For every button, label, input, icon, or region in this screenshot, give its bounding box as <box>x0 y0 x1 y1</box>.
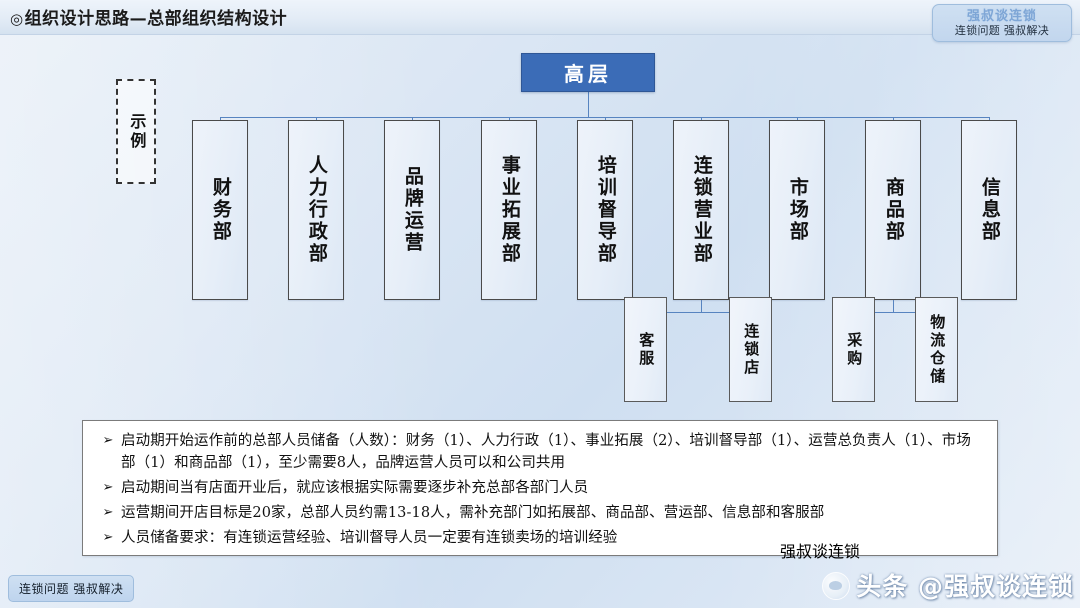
node-sub-liansuodian-label: 连锁店 <box>743 323 759 377</box>
title-marker-icon: ◎ <box>10 10 24 28</box>
note-item-2-text: 运营期间开店目标是20家，总部人员约需13-18人，需补充部门如拓展部、商品部、… <box>121 502 985 524</box>
note-bullet-icon: ➢ <box>95 430 121 452</box>
note-item-0-text: 启动期开始运作前的总部人员储备（人数）：财务（1）、人力行政（1）、事业拓展（2… <box>121 430 985 474</box>
node-dept-5-label: 连锁营业部 <box>691 155 711 265</box>
node-dept-3-label: 事业拓展部 <box>499 155 519 265</box>
node-sub-kefu-label: 客服 <box>638 332 654 368</box>
node-sub-kefu[interactable]: 客服 <box>624 297 667 402</box>
connector-sp-stem <box>893 300 894 312</box>
example-annotation-box: 示例 <box>116 79 156 184</box>
node-sub-liansuodian[interactable]: 连锁店 <box>729 297 772 402</box>
watermark-main: 头条 @强叔谈连锁 <box>822 572 1074 600</box>
watermark-platform: 头条 <box>856 572 908 601</box>
node-dept-0[interactable]: 财务部 <box>192 120 248 300</box>
note-bullet-icon: ➢ <box>95 502 121 524</box>
node-sub-wuliu[interactable]: 物流仓储 <box>915 297 958 402</box>
brand-name: 强叔谈连锁 <box>967 10 1037 24</box>
watermark-handle: 头条 @强叔谈连锁 <box>856 573 1074 600</box>
node-dept-4[interactable]: 培训督导部 <box>577 120 633 300</box>
node-dept-6[interactable]: 市场部 <box>769 120 825 300</box>
connector-root-stem <box>588 92 589 118</box>
watermark-ghost-text: 强叔谈连锁 <box>780 538 1080 562</box>
node-root[interactable]: 高层 <box>521 53 655 92</box>
page-title-text: 组织设计思路—总部组织结构设计 <box>25 9 288 29</box>
node-dept-4-label: 培训督导部 <box>595 155 615 265</box>
note-bullet-icon: ➢ <box>95 477 121 499</box>
node-dept-2-label: 品牌运营 <box>402 166 422 254</box>
brand-badge-bottom-left[interactable]: 连锁问题 强叔解决 <box>8 575 134 602</box>
avatar <box>822 572 850 600</box>
connector-ls-stem <box>701 300 702 312</box>
watermark: 强叔谈连锁 头条 @强叔谈连锁 <box>780 538 1080 608</box>
node-sub-wuliu-label: 物流仓储 <box>929 314 945 386</box>
note-item-1: ➢启动期间当有店面开业后，就应该根据实际需要逐步补充总部各部门人员 <box>95 477 985 499</box>
node-dept-7-label: 商品部 <box>883 177 903 243</box>
node-dept-5[interactable]: 连锁营业部 <box>673 120 729 300</box>
example-annotation-label: 示例 <box>128 113 145 151</box>
watermark-account: @强叔谈连锁 <box>918 572 1074 601</box>
slide-canvas: ◎组织设计思路—总部组织结构设计 强叔谈连锁 连锁问题 强叔解决 示例 高层 财… <box>0 0 1080 608</box>
node-dept-2[interactable]: 品牌运营 <box>384 120 440 300</box>
node-dept-3[interactable]: 事业拓展部 <box>481 120 537 300</box>
node-dept-8[interactable]: 信息部 <box>961 120 1017 300</box>
node-dept-1-label: 人力行政部 <box>306 155 326 265</box>
note-item-2: ➢运营期间开店目标是20家，总部人员约需13-18人，需补充部门如拓展部、商品部… <box>95 502 985 524</box>
notes-panel: ➢启动期开始运作前的总部人员储备（人数）：财务（1）、人力行政（1）、事业拓展（… <box>82 420 998 556</box>
note-item-1-text: 启动期间当有店面开业后，就应该根据实际需要逐步补充总部各部门人员 <box>121 477 985 499</box>
node-dept-7[interactable]: 商品部 <box>865 120 921 300</box>
org-chart: 示例 高层 财务部 人力行政部 品牌运营 事业拓展部 培训督导部 连锁营业部 市… <box>0 34 1080 414</box>
node-dept-6-label: 市场部 <box>787 177 807 243</box>
node-dept-0-label: 财务部 <box>210 177 230 243</box>
node-root-label: 高层 <box>564 58 612 87</box>
brand-tagline: 连锁问题 强叔解决 <box>955 24 1049 37</box>
brand-badge-top-right[interactable]: 强叔谈连锁 连锁问题 强叔解决 <box>932 4 1072 42</box>
page-title: ◎组织设计思路—总部组织结构设计 <box>10 4 287 29</box>
node-sub-caigou-label: 采购 <box>846 332 862 368</box>
note-bullet-icon: ➢ <box>95 527 121 549</box>
node-dept-1[interactable]: 人力行政部 <box>288 120 344 300</box>
node-dept-8-label: 信息部 <box>979 177 999 243</box>
note-item-0: ➢启动期开始运作前的总部人员储备（人数）：财务（1）、人力行政（1）、事业拓展（… <box>95 430 985 474</box>
node-sub-caigou[interactable]: 采购 <box>832 297 875 402</box>
